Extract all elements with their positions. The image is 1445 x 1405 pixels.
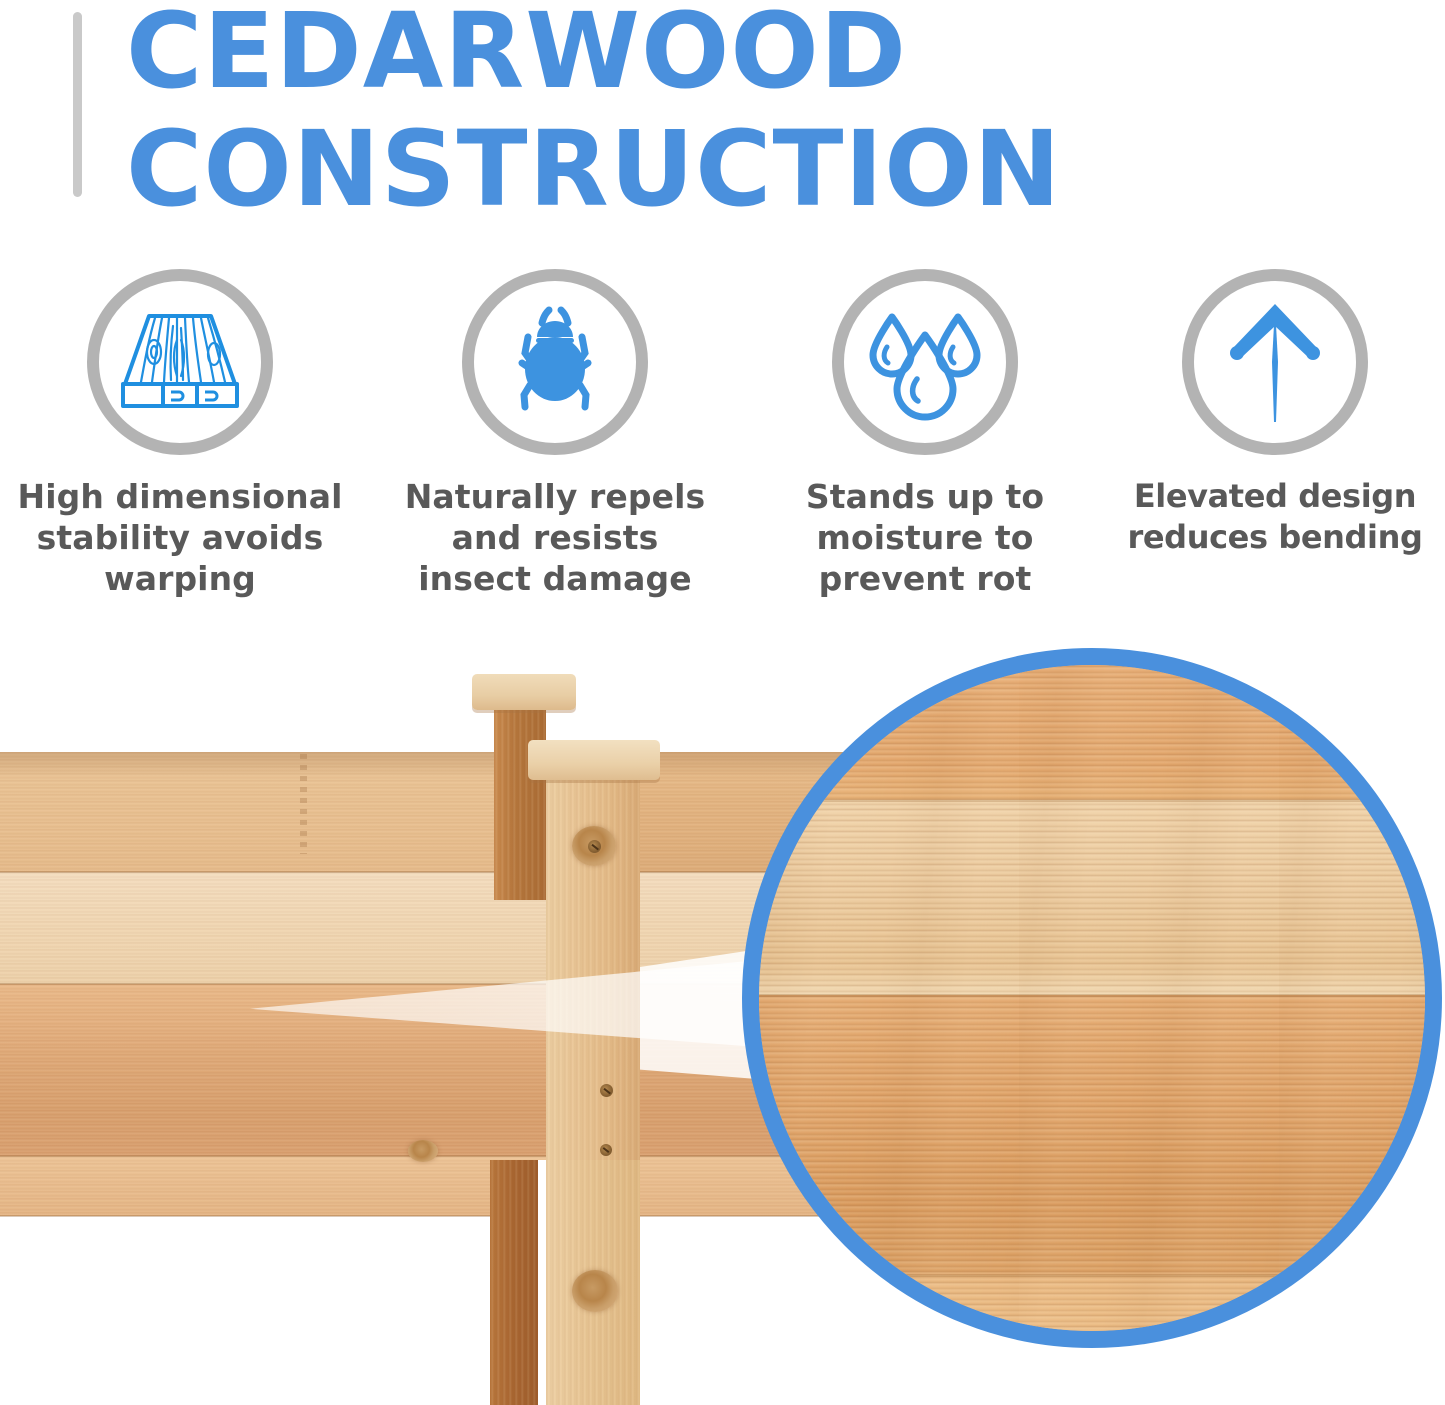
feature-icon-wrap	[385, 262, 725, 462]
water-droplets-icon	[861, 303, 989, 421]
caption-line: warping	[104, 559, 256, 598]
caption-line: insect damage	[418, 559, 692, 598]
header: CEDARWOOD CONSTRUCTION	[0, 0, 1445, 215]
feature-item-moisture-resistance: Stands up to moisture to prevent rot	[755, 262, 1095, 599]
feature-item-elevated-design: Elevated design reduces bending	[1105, 262, 1445, 558]
wood-grain-magnifier-circle	[742, 648, 1442, 1348]
bug-icon	[494, 301, 616, 423]
feature-item-insect-resistance: Naturally repels and resists insect dama…	[385, 262, 725, 599]
up-arrow-icon	[1215, 298, 1335, 426]
caption-line: Stands up to	[806, 477, 1044, 516]
screw-head	[600, 1144, 612, 1156]
feature-caption: Stands up to moisture to prevent rot	[755, 476, 1095, 599]
mag-grain-wave	[759, 665, 1425, 1331]
screw-head	[600, 1084, 613, 1097]
feature-item-dimensional-stability: High dimensional stability avoids warpin…	[10, 262, 350, 599]
icon-ring	[462, 269, 648, 455]
infographic-canvas: CEDARWOOD CONSTRUCTION	[0, 0, 1445, 1405]
caption-line: reduces bending	[1128, 518, 1423, 556]
page-title: CEDARWOOD CONSTRUCTION	[126, 0, 1376, 228]
icon-ring	[832, 269, 1018, 455]
planter-post-rear	[494, 700, 546, 900]
icon-ring	[1182, 269, 1368, 455]
title-line-1: CEDARWOOD	[126, 0, 1376, 110]
screw-head	[588, 840, 601, 853]
feature-caption: Naturally repels and resists insect dama…	[385, 476, 725, 599]
icon-ring	[87, 269, 273, 455]
caption-line: Elevated design	[1134, 477, 1416, 515]
post-cap-rear	[472, 674, 576, 710]
caption-line: and resists	[452, 518, 659, 557]
feature-caption: Elevated design reduces bending	[1105, 476, 1445, 558]
wood-plank-grain-icon	[115, 310, 245, 414]
feature-list: High dimensional stability avoids warpin…	[0, 262, 1445, 612]
caption-line: High dimensional	[17, 477, 342, 516]
caption-line: stability avoids	[37, 518, 324, 557]
feature-icon-wrap	[755, 262, 1095, 462]
feature-icon-wrap	[10, 262, 350, 462]
caption-line: prevent rot	[819, 559, 1032, 598]
caption-line: moisture to	[817, 518, 1034, 557]
feature-caption: High dimensional stability avoids warpin…	[10, 476, 350, 599]
title-accent-bar	[73, 12, 82, 197]
wood-knot	[572, 1270, 618, 1312]
product-photo	[0, 640, 1445, 1405]
title-line-2: CONSTRUCTION	[126, 110, 1376, 228]
planter-leg-rear	[490, 1160, 538, 1405]
feature-icon-wrap	[1105, 262, 1445, 462]
planter-finger-joint	[300, 754, 307, 854]
wood-knot	[408, 1140, 438, 1162]
caption-line: Naturally repels	[405, 477, 706, 516]
post-cap-front	[528, 740, 660, 780]
